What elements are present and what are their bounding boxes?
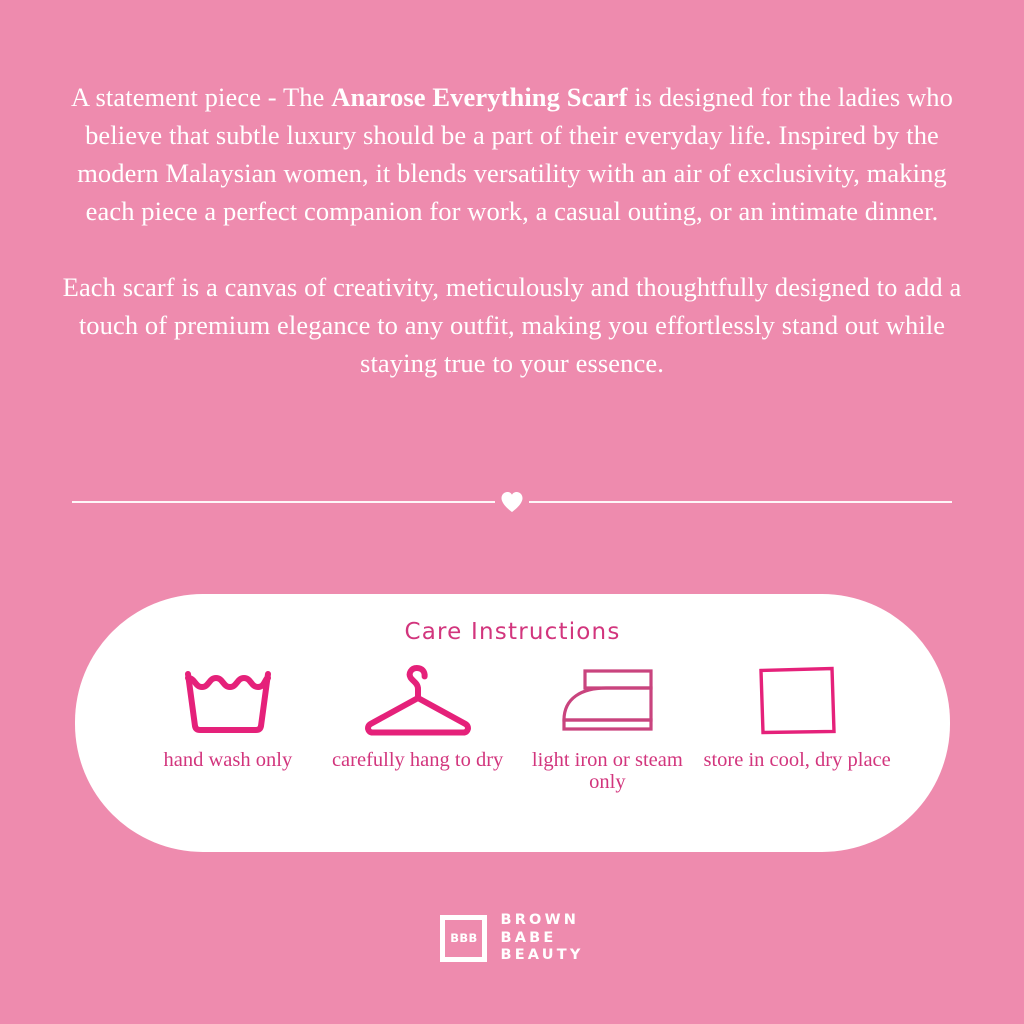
logo-mark-text: BBB (450, 931, 478, 945)
product-description-card: A statement piece - The Anarose Everythi… (0, 0, 1024, 1024)
description-block: A statement piece - The Anarose Everythi… (62, 78, 962, 382)
care-item-label: light iron or steam only (513, 749, 703, 793)
care-item-hand-wash: hand wash only (133, 663, 323, 771)
care-instructions-title: Care Instructions (75, 594, 950, 645)
description-paragraph-2: Each scarf is a canvas of creativity, me… (62, 268, 962, 382)
care-item-light-iron: light iron or steam only (513, 663, 703, 793)
clothes-hanger-icon (362, 663, 474, 739)
care-item-label: hand wash only (164, 749, 293, 771)
heart-icon (495, 485, 529, 519)
care-instructions-card: Care Instructions hand wash only (75, 594, 950, 852)
brand-line-1: BROWN (500, 912, 583, 930)
brand-wordmark: BROWN BABE BEAUTY (500, 912, 583, 965)
section-divider (72, 484, 952, 520)
description-paragraph-1: A statement piece - The Anarose Everythi… (62, 78, 962, 230)
brand-line-2: BABE (500, 930, 583, 948)
paragraph-1-lead: A statement piece - The (71, 82, 331, 112)
care-instructions-list: hand wash only carefully hang to dry (75, 663, 950, 793)
care-item-label: store in cool, dry place (703, 749, 890, 771)
logo-mark-icon: BBB (440, 915, 487, 962)
care-item-label: carefully hang to dry (332, 749, 503, 771)
brand-logo: BBB BROWN BABE BEAUTY (0, 912, 1024, 965)
wash-basin-icon (182, 663, 274, 739)
care-item-hang-dry: carefully hang to dry (323, 663, 513, 771)
care-item-store-cool: store in cool, dry place (702, 663, 892, 771)
square-storage-icon (756, 663, 838, 739)
brand-line-3: BEAUTY (500, 947, 583, 965)
product-name-emphasis: Anarose Everything Scarf (331, 82, 627, 112)
iron-icon (558, 663, 656, 739)
